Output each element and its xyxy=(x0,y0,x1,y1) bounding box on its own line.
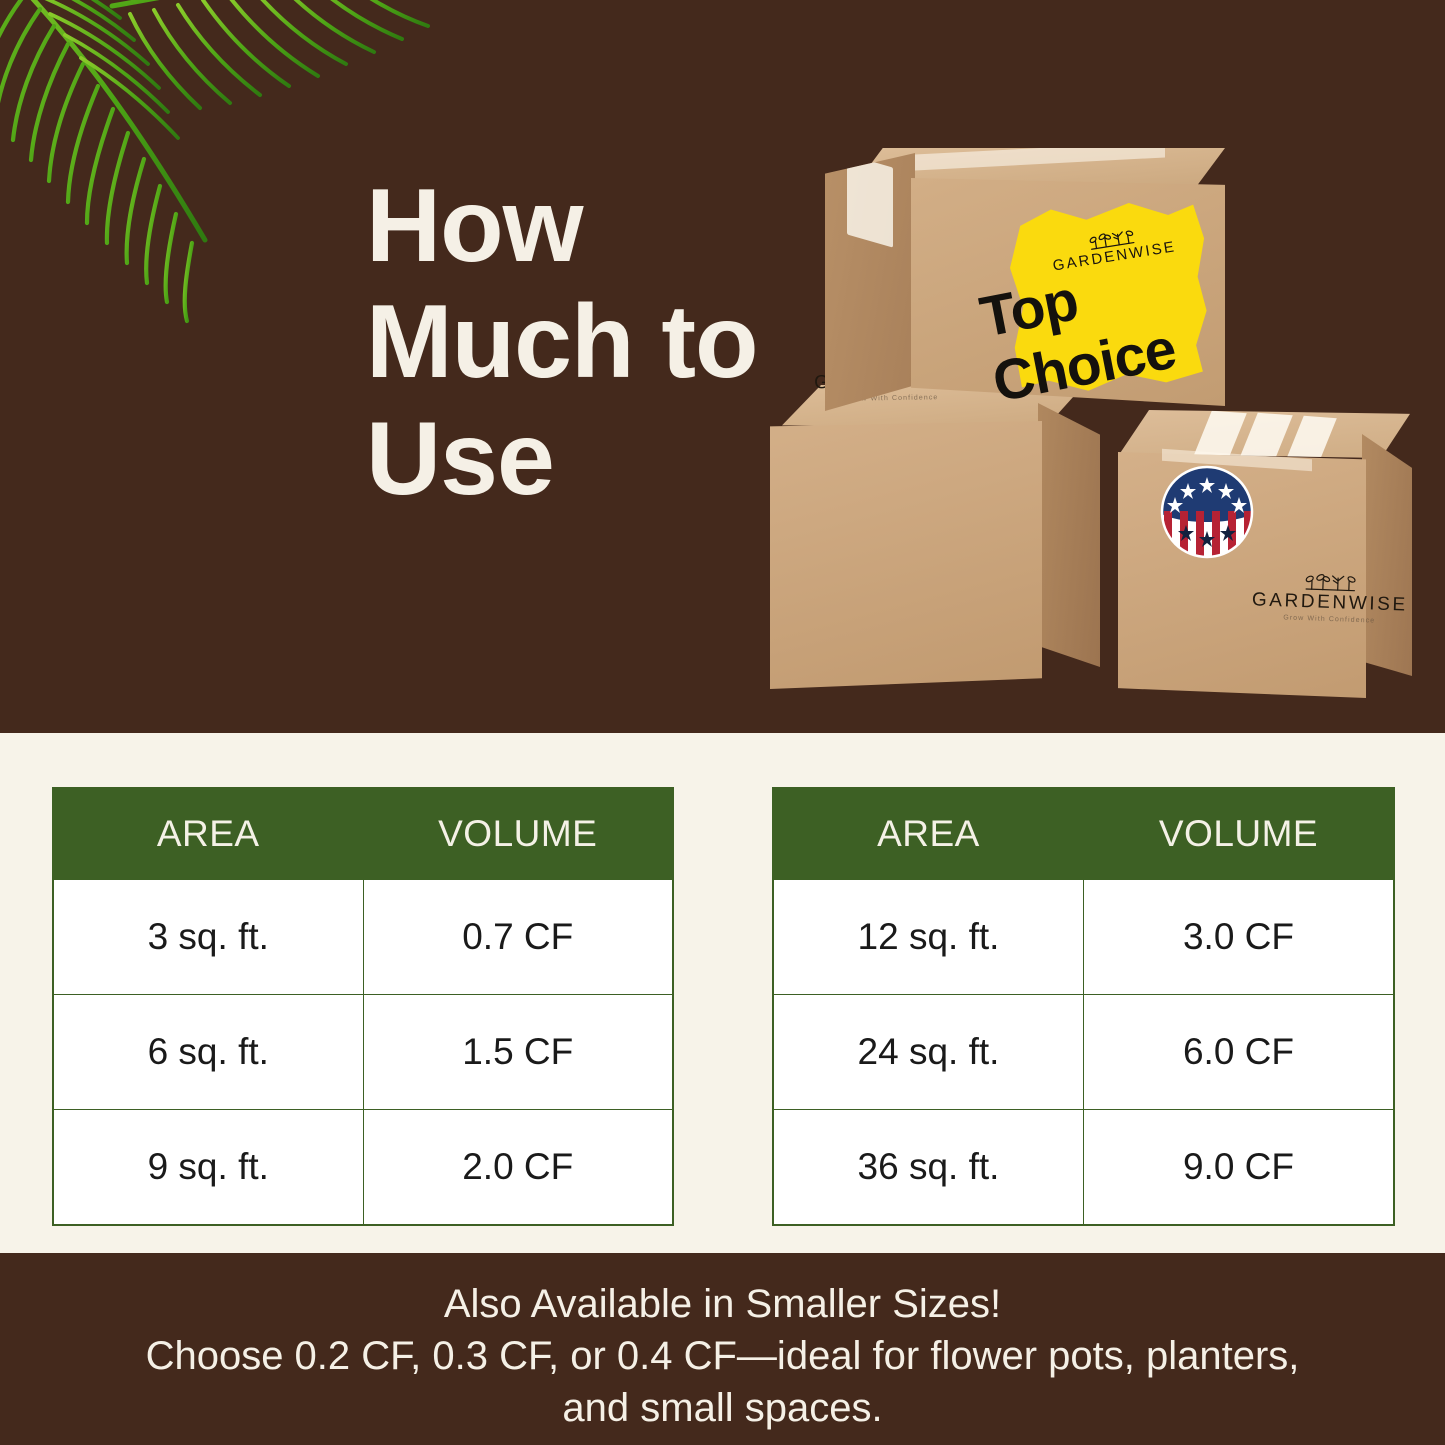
column-header-volume: VOLUME xyxy=(1084,789,1394,880)
usa-flag-badge-icon xyxy=(1160,465,1254,559)
title-line-1: How xyxy=(366,168,766,284)
box-middle xyxy=(770,385,1100,690)
box-top: GARDENWISE Top Choice xyxy=(825,148,1225,413)
title-line-3: Use xyxy=(366,401,766,517)
cell-area: 6 sq. ft. xyxy=(54,995,364,1110)
box-right xyxy=(1100,410,1412,700)
packing-tape-strip xyxy=(915,141,1165,170)
sprout-icon xyxy=(1304,571,1357,592)
box-right-side-face xyxy=(1362,434,1412,676)
table-row: 3 sq. ft. 0.7 CF xyxy=(54,880,673,995)
table-header-row: AREA VOLUME xyxy=(54,789,673,880)
box-top-side-face xyxy=(825,153,915,411)
page-title: How Much to Use xyxy=(366,168,766,517)
cell-volume: 3.0 CF xyxy=(1084,880,1394,995)
cell-area: 9 sq. ft. xyxy=(54,1110,364,1225)
product-boxes-illustration: GARDENWISE Grow With Confidence xyxy=(770,120,1410,690)
box-middle-side-face xyxy=(1038,403,1100,667)
column-header-volume: VOLUME xyxy=(363,789,673,880)
table-row: 6 sq. ft. 1.5 CF xyxy=(54,995,673,1110)
table-row: 12 sq. ft. 3.0 CF xyxy=(774,880,1394,995)
footer-line-2: Choose 0.2 CF, 0.3 CF, or 0.4 CF—ideal f… xyxy=(0,1330,1445,1382)
coverage-table-left: AREA VOLUME 3 sq. ft. 0.7 CF 6 sq. ft. 1… xyxy=(52,787,674,1226)
cell-area: 3 sq. ft. xyxy=(54,880,364,995)
footer-line-1: Also Available in Smaller Sizes! xyxy=(0,1278,1445,1330)
cell-volume: 2.0 CF xyxy=(363,1110,673,1225)
infographic-canvas: How Much to Use xyxy=(0,0,1445,1445)
table-row: 9 sq. ft. 2.0 CF xyxy=(54,1110,673,1225)
title-line-2: Much to xyxy=(366,284,766,400)
cell-area: 36 sq. ft. xyxy=(774,1110,1084,1225)
cell-area: 12 sq. ft. xyxy=(774,880,1084,995)
table-header-row: AREA VOLUME xyxy=(774,789,1394,880)
footer-line-3: and small spaces. xyxy=(0,1382,1445,1434)
brand-mark-right-box: GARDENWISE Grow With Confidence xyxy=(1239,569,1421,626)
packing-tape-strip xyxy=(847,154,893,247)
coverage-table-right: AREA VOLUME 12 sq. ft. 3.0 CF 24 sq. ft.… xyxy=(772,787,1395,1226)
cell-volume: 6.0 CF xyxy=(1084,995,1394,1110)
hero-section: How Much to Use xyxy=(0,0,1445,733)
cell-area: 24 sq. ft. xyxy=(774,995,1084,1110)
cell-volume: 9.0 CF xyxy=(1084,1110,1394,1225)
cell-volume: 1.5 CF xyxy=(363,995,673,1110)
table-row: 24 sq. ft. 6.0 CF xyxy=(774,995,1394,1110)
column-header-area: AREA xyxy=(54,789,364,880)
footer-note: Also Available in Smaller Sizes! Choose … xyxy=(0,1278,1445,1434)
cell-volume: 0.7 CF xyxy=(363,880,673,995)
table-row: 36 sq. ft. 9.0 CF xyxy=(774,1110,1394,1225)
box-middle-front-face xyxy=(770,421,1042,689)
column-header-area: AREA xyxy=(774,789,1084,880)
